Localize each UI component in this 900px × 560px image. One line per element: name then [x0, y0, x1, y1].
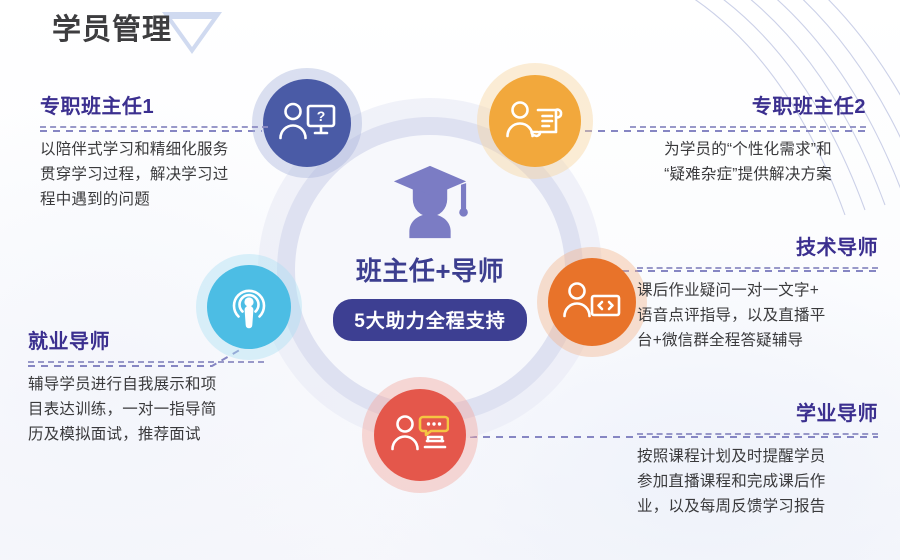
node-zhuanzhi-banzhuren-1[interactable]: ?	[252, 68, 362, 178]
hub-heading: 班主任+导师	[356, 251, 504, 288]
block-body: 辅导学员进行自我展示和项 目表达训练，一对一指导简 历及模拟面试，推荐面试	[28, 372, 264, 447]
hub-pill-badge: 5大助力全程支持	[333, 299, 527, 341]
body-line: “疑难杂症”提供解决方案	[664, 166, 832, 183]
block-xueye-daoshi: 学业导师 按照课程计划及时提醒学员 参加直播课程和完成课后作 业，以及每周反馈学…	[637, 402, 878, 519]
body-line: 业，以及每周反馈学习报告	[637, 498, 825, 515]
body-line: 参加直播课程和完成课后作	[637, 473, 825, 490]
node-core	[489, 75, 581, 167]
person-monitor-question-icon: ?	[278, 100, 336, 146]
body-line: 历及模拟面试，推荐面试	[28, 426, 201, 443]
body-line: 台+微信群全程答疑辅导	[637, 332, 803, 349]
body-line: 按照课程计划及时提醒学员	[637, 448, 825, 465]
page-title: 学员管理	[52, 16, 172, 45]
graduate-cap-person-icon	[387, 159, 473, 245]
body-line: 语音点评指导，以及直播平	[637, 307, 825, 324]
block-heading: 专职班主任1	[40, 95, 268, 119]
node-jishu-daoshi[interactable]	[537, 247, 647, 357]
node-core	[548, 258, 636, 346]
block-zhuanzhi-banzhuren-2: 专职班主任2 为学员的“个性化需求”和 “疑难杂症”提供解决方案	[630, 95, 866, 187]
block-zhuanzhi-banzhuren-1: 专职班主任1 以陪伴式学习和精细化服务 贯穿学习过程，解决学习过 程中遇到的问题	[40, 95, 268, 212]
block-body: 课后作业疑问一对一文字+ 语音点评指导，以及直播平 台+微信群全程答疑辅导	[637, 278, 878, 353]
block-heading: 专职班主任2	[630, 95, 866, 119]
node-xueye-daoshi[interactable]	[362, 377, 478, 493]
block-body: 为学员的“个性化需求”和 “疑难杂症”提供解决方案	[630, 137, 866, 187]
block-heading: 就业导师	[28, 330, 264, 354]
block-body: 以陪伴式学习和精细化服务 贯穿学习过程，解决学习过 程中遇到的问题	[40, 137, 268, 212]
heading-divider	[40, 126, 268, 128]
body-line: 课后作业疑问一对一文字+	[637, 282, 819, 299]
body-line: 为学员的“个性化需求”和	[664, 141, 832, 158]
person-code-screen-icon	[563, 280, 621, 324]
block-jiuye-daoshi: 就业导师 辅导学员进行自我展示和项 目表达训练，一对一指导简 历及模拟面试，推荐…	[28, 330, 264, 447]
broadcast-person-icon	[224, 282, 274, 332]
body-line: 辅导学员进行自我展示和项	[28, 376, 216, 393]
heading-divider	[28, 361, 264, 363]
node-core: ?	[263, 79, 351, 167]
block-heading: 学业导师	[637, 402, 878, 426]
svg-text:?: ?	[317, 108, 326, 124]
block-heading: 技术导师	[637, 236, 878, 260]
heading-divider	[637, 267, 878, 269]
body-line: 以陪伴式学习和精细化服务	[40, 141, 228, 158]
heading-divider	[637, 433, 878, 435]
body-line: 目表达训练，一对一指导简	[28, 401, 216, 418]
block-body: 按照课程计划及时提醒学员 参加直播课程和完成课后作 业，以及每周反馈学习报告	[637, 444, 878, 519]
infographic-canvas: 学员管理 班主任+导师 5大助力全	[0, 0, 900, 560]
person-speech-bubble-icon	[391, 413, 449, 457]
heading-divider	[630, 126, 866, 128]
node-zhuanzhi-banzhuren-2[interactable]	[477, 63, 593, 179]
body-line: 程中遇到的问题	[40, 191, 150, 208]
node-core	[374, 389, 466, 481]
page-title-group: 学员管理	[52, 6, 172, 54]
triangle-decor-inner	[172, 19, 212, 47]
person-scroll-icon	[506, 98, 564, 144]
block-jishu-daoshi: 技术导师 课后作业疑问一对一文字+ 语音点评指导，以及直播平 台+微信群全程答疑…	[637, 236, 878, 353]
body-line: 贯穿学习过程，解决学习过	[40, 166, 228, 183]
